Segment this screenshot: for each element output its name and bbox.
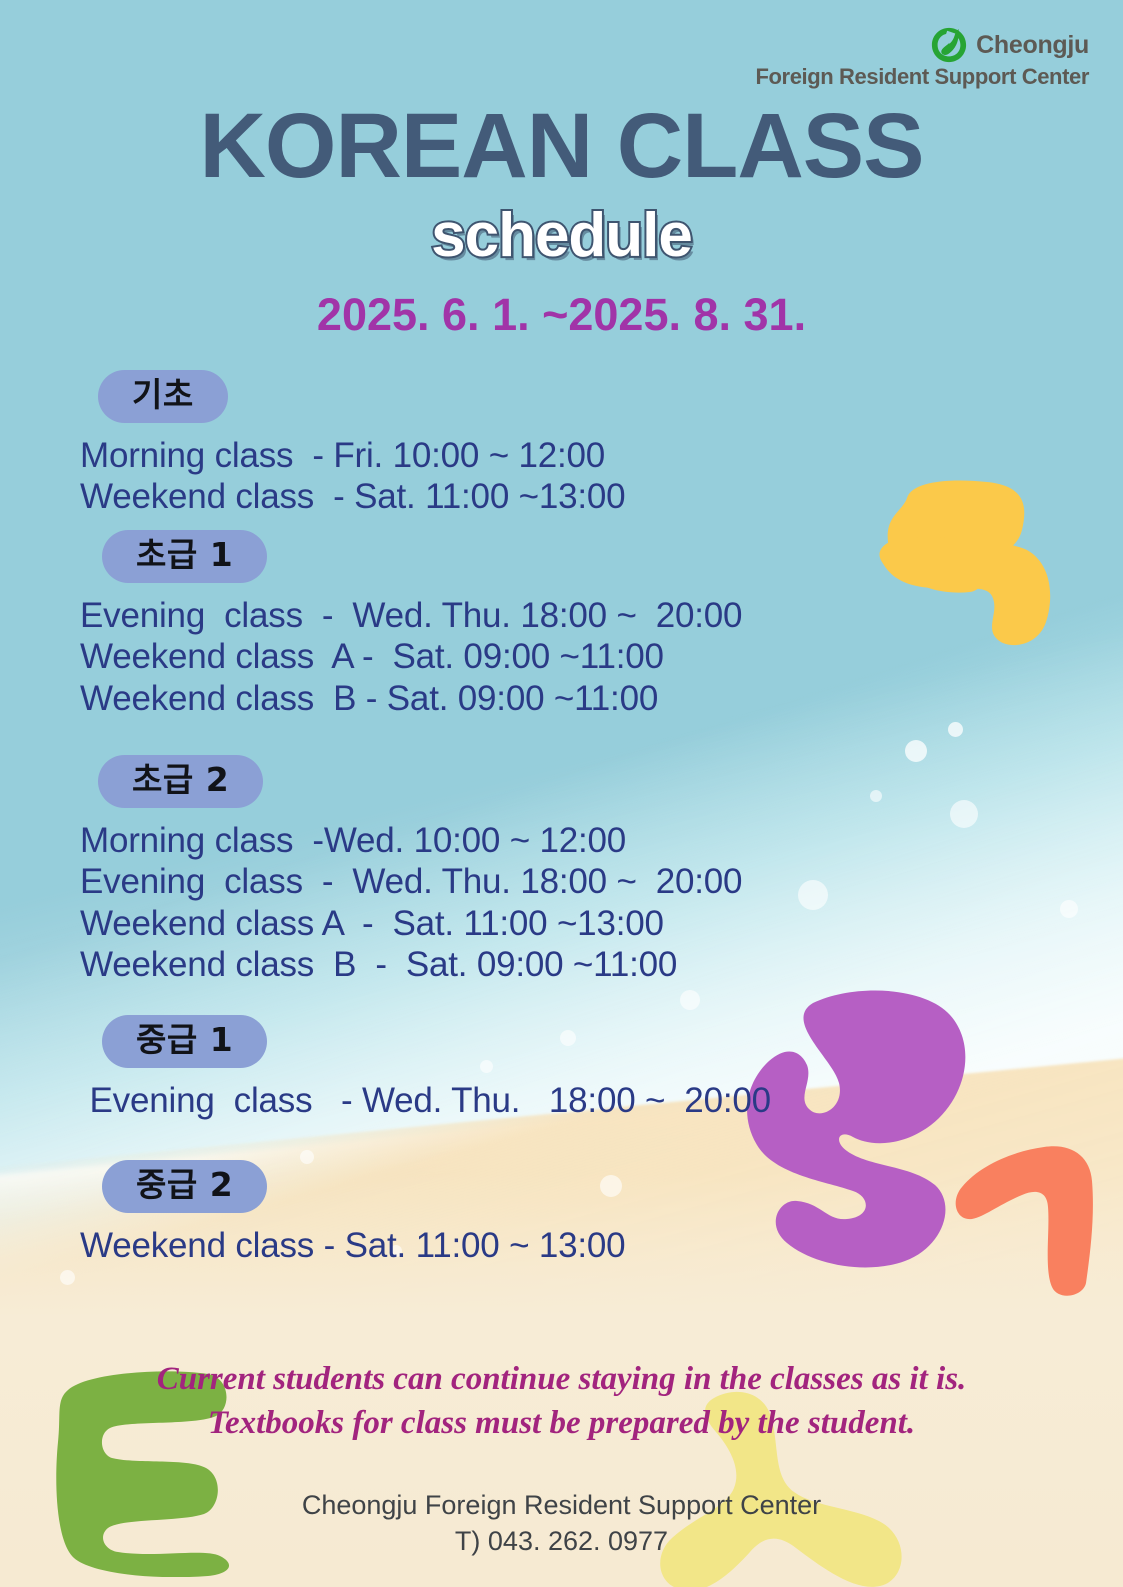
org-logo: Cheongju Foreign Resident Support Center <box>755 26 1089 89</box>
level-block: 기초Morning class - Fri. 10:00 ~ 12:00Week… <box>80 370 1060 518</box>
level-badge: 중급 1 <box>102 1015 267 1068</box>
notice-text: Current students can continue staying in… <box>0 1358 1123 1446</box>
class-line: Weekend class B - Sat. 09:00 ~11:00 <box>80 678 1060 719</box>
class-line: Weekend class A - Sat. 09:00 ~11:00 <box>80 636 1060 677</box>
logo-top-row: Cheongju <box>930 26 1089 64</box>
leaf-circle-icon <box>930 26 968 64</box>
date-range: 2025. 6. 1. ~2025. 8. 31. <box>0 292 1123 337</box>
logo-org-label: Foreign Resident Support Center <box>755 65 1089 89</box>
level-badge: 초급 2 <box>98 755 263 808</box>
class-line-group: Morning class -Wed. 10:00 ~ 12:00Evening… <box>80 820 1060 985</box>
class-line-group: Evening class - Wed. Thu. 18:00 ~ 20:00W… <box>80 595 1060 719</box>
notice-line: Current students can continue staying in… <box>0 1358 1123 1402</box>
class-line: Weekend class B - Sat. 09:00 ~11:00 <box>80 944 1060 985</box>
class-line-group: Evening class - Wed. Thu. 18:00 ~ 20:00 <box>80 1080 1060 1121</box>
class-line-group: Morning class - Fri. 10:00 ~ 12:00Weeken… <box>80 435 1060 518</box>
poster-root: Cheongju Foreign Resident Support Center… <box>0 0 1123 1587</box>
level-block: 초급 2Morning class -Wed. 10:00 ~ 12:00Eve… <box>80 755 1060 985</box>
bubble-decor <box>60 1270 75 1285</box>
class-line: Evening class - Wed. Thu. 18:00 ~ 20:00 <box>80 595 1060 636</box>
bubble-decor <box>1060 900 1078 918</box>
notice-line: Textbooks for class must be prepared by … <box>0 1402 1123 1446</box>
class-line: Morning class -Wed. 10:00 ~ 12:00 <box>80 820 1060 861</box>
bubble-decor <box>948 722 963 737</box>
class-line: Weekend class A - Sat. 11:00 ~13:00 <box>80 903 1060 944</box>
class-line: Evening class - Wed. Thu. 18:00 ~ 20:00 <box>80 861 1060 902</box>
level-block: 중급 2Weekend class - Sat. 11:00 ~ 13:00 <box>80 1160 1060 1266</box>
level-block: 초급 1Evening class - Wed. Thu. 18:00 ~ 20… <box>80 530 1060 719</box>
page-title: KOREAN CLASS <box>0 100 1123 192</box>
logo-city-label: Cheongju <box>976 32 1089 59</box>
class-line-group: Weekend class - Sat. 11:00 ~ 13:00 <box>80 1225 1060 1266</box>
class-line: Weekend class - Sat. 11:00 ~ 13:00 <box>80 1225 1060 1266</box>
class-line: Morning class - Fri. 10:00 ~ 12:00 <box>80 435 1060 476</box>
class-line: Weekend class - Sat. 11:00 ~13:00 <box>80 476 1060 517</box>
level-badge: 기초 <box>98 370 228 423</box>
class-line: Evening class - Wed. Thu. 18:00 ~ 20:00 <box>80 1080 1060 1121</box>
contact-line: T) 043. 262. 0977 <box>0 1523 1123 1559</box>
bubble-decor <box>680 990 700 1010</box>
contact-info: Cheongju Foreign Resident Support Center… <box>0 1487 1123 1560</box>
contact-line: Cheongju Foreign Resident Support Center <box>0 1487 1123 1523</box>
level-block: 중급 1 Evening class - Wed. Thu. 18:00 ~ 2… <box>80 1015 1060 1121</box>
level-badge: 중급 2 <box>102 1160 267 1213</box>
page-subtitle: schedule <box>0 205 1123 267</box>
level-badge: 초급 1 <box>102 530 267 583</box>
